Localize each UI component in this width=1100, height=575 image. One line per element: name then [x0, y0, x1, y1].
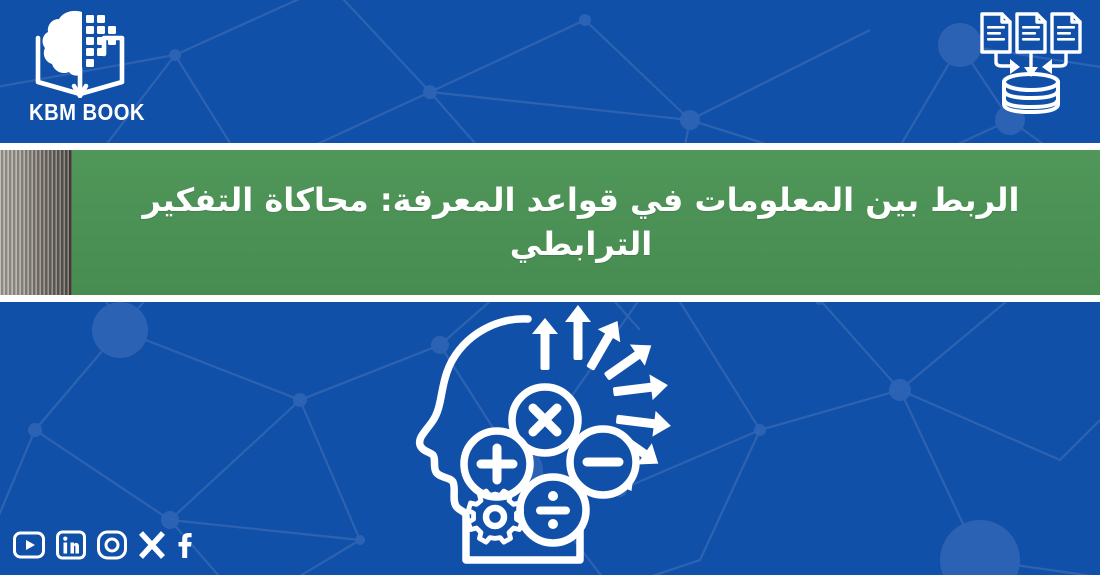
- instagram-icon: [96, 529, 128, 561]
- social-link-linkedin[interactable]: [55, 529, 87, 561]
- social-link-facebook[interactable]: [176, 529, 194, 561]
- brand-name: KBM BOOK: [21, 99, 153, 126]
- x-twitter-icon: [137, 529, 167, 561]
- poster-canvas: KBM BOOK: [0, 0, 1100, 575]
- banner-edge-texture: [0, 150, 72, 295]
- social-links: [12, 529, 194, 561]
- head-with-math-symbols-icon: [400, 292, 730, 575]
- youtube-icon: [12, 529, 46, 561]
- brain-book-icon: [30, 6, 130, 98]
- social-link-youtube[interactable]: [12, 529, 46, 561]
- linkedin-icon: [55, 529, 87, 561]
- documents-to-database-icon: [972, 6, 1082, 114]
- facebook-icon: [176, 529, 194, 561]
- page-title: الربط بين المعلومات في قواعد المعرفة: مح…: [88, 179, 1100, 266]
- divider-top: [0, 143, 1100, 150]
- brand-logo[interactable]: KBM BOOK: [12, 6, 162, 134]
- title-banner: الربط بين المعلومات في قواعد المعرفة: مح…: [0, 150, 1100, 295]
- header-band: KBM BOOK: [0, 0, 1100, 143]
- social-link-x[interactable]: [137, 529, 167, 561]
- social-link-instagram[interactable]: [96, 529, 128, 561]
